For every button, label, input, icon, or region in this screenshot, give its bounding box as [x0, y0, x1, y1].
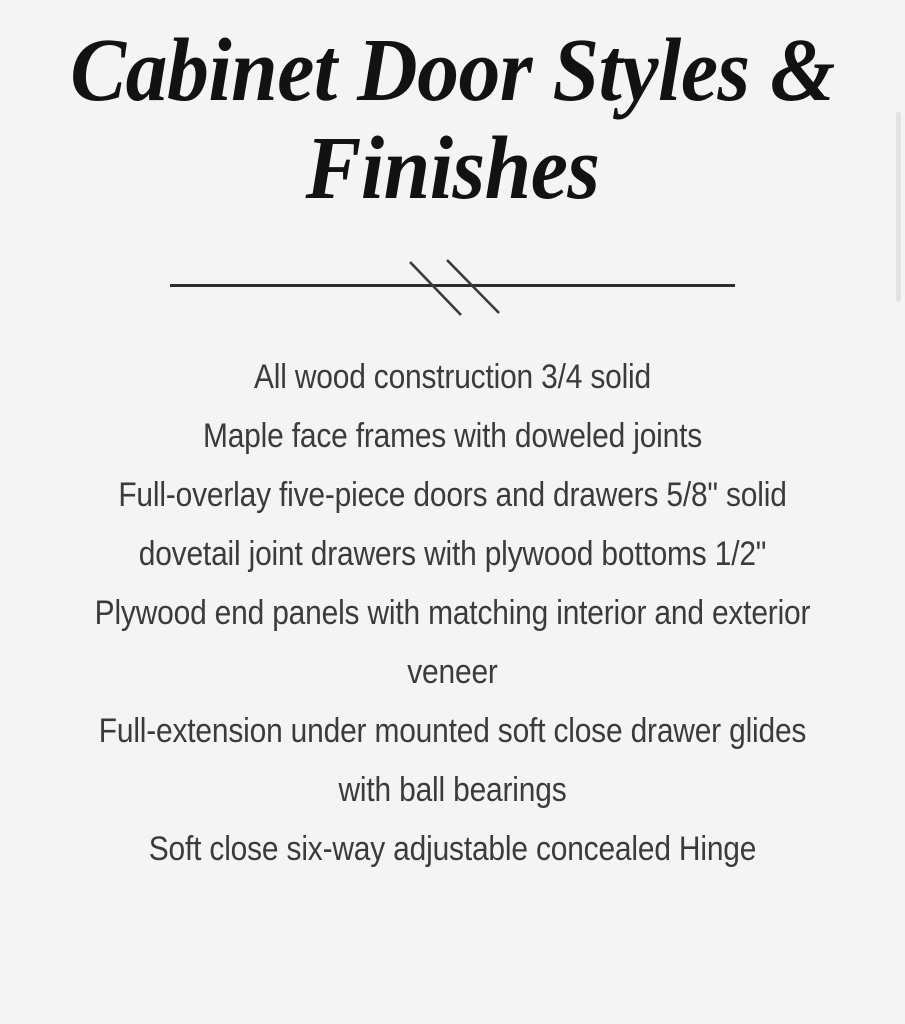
divider-ornament-icon: [0, 250, 905, 322]
scrollbar-thumb[interactable]: [896, 112, 901, 302]
page-title-line-1: Cabinet Door Styles &: [43, 22, 862, 120]
vertical-scrollbar[interactable]: [895, 0, 901, 1024]
spec-line: Maple face frames with doweled joints: [75, 407, 829, 466]
page-title-line-2: Finishes: [43, 120, 862, 218]
spec-line: Full-extension under mounted soft close …: [75, 702, 829, 820]
spec-line: Full-overlay five-piece doors and drawer…: [75, 466, 829, 525]
specification-list: All wood construction 3/4 solid Maple fa…: [0, 348, 905, 879]
spec-line: Soft close six-way adjustable concealed …: [75, 820, 829, 879]
spec-line: Plywood end panels with matching interio…: [75, 584, 829, 702]
divider: [0, 250, 905, 322]
page-title: Cabinet Door Styles & Finishes: [0, 22, 905, 218]
page-root: Cabinet Door Styles & Finishes All wood …: [0, 0, 905, 1024]
spec-line: dovetail joint drawers with plywood bott…: [75, 525, 829, 584]
spec-line: All wood construction 3/4 solid: [75, 348, 829, 407]
